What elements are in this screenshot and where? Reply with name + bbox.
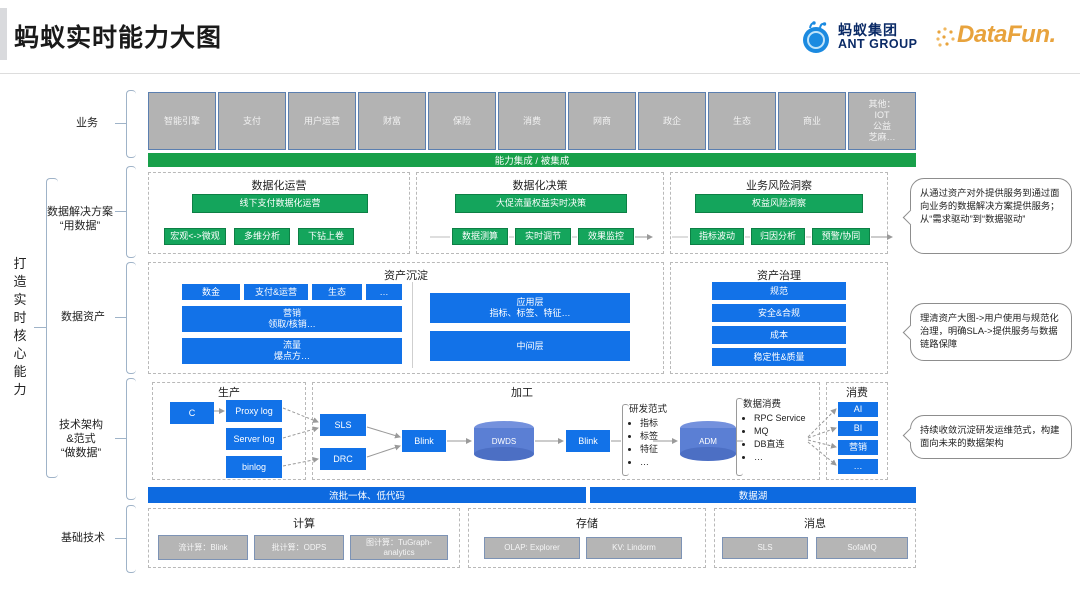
page-header: 蚂蚁实时能力大图 蚂蚁集团 ANT GROUP DataFun. (0, 0, 1080, 74)
business-item-4[interactable]: 保险 (428, 92, 496, 150)
tech-produce-title: 生产 (152, 384, 306, 400)
solution-panel-0-step-0[interactable]: 宏观<->微观 (164, 228, 226, 245)
consume-api-item-1: MQ (754, 425, 807, 438)
process-blink-left[interactable]: Blink (402, 430, 446, 452)
asset-block-1-line1: 流量 (283, 340, 301, 351)
business-item-8[interactable]: 生态 (708, 92, 776, 150)
header-divider (0, 73, 1080, 74)
business-item-9[interactable]: 商业 (778, 92, 846, 150)
tick-business (115, 123, 127, 124)
rail-outer-tick (34, 327, 47, 328)
datafun-logo-text: DataFun. (957, 21, 1056, 49)
brace-tech (126, 378, 136, 500)
solution-panel-1-title: 数据化决策 (416, 177, 664, 193)
solution-panel-0-headline[interactable]: 线下支付数据化运营 (192, 194, 368, 213)
process-store-dwds[interactable]: DWDS (474, 421, 534, 461)
integration-bar: 能力集成 / 被集成 (148, 153, 916, 167)
business-item-3[interactable]: 财富 (358, 92, 426, 150)
asset-layer-1-line1: 中间层 (516, 341, 543, 352)
solution-panel-1-headline[interactable]: 大促流量权益实时决策 (455, 194, 627, 213)
consume-api-item-3: … (754, 451, 807, 464)
foundation-group-1-title: 存储 (468, 515, 706, 531)
produce-c-box[interactable]: C (170, 402, 214, 424)
solution-panel-2-step-0[interactable]: 指标波动 (690, 228, 744, 245)
business-item-6[interactable]: 网商 (568, 92, 636, 150)
paradigm-item-0: 指标 (640, 417, 681, 430)
produce-log-2[interactable]: binlog (226, 456, 282, 478)
tick-assets (115, 317, 127, 318)
business-item-1[interactable]: 支付 (218, 92, 286, 150)
paradigm-item-2: 特征 (640, 443, 681, 456)
business-item-10-line0: 其他： (868, 99, 895, 110)
foundation-item-2-0[interactable]: SLS (722, 537, 808, 559)
solution-panel-1-step-1[interactable]: 实时调节 (515, 228, 571, 245)
foundation-item-0-0[interactable]: 流计算：Blink (158, 535, 248, 560)
consume-api-head: 数据消费 (743, 398, 807, 411)
asset-governance-title: 资产治理 (670, 267, 888, 283)
business-item-5[interactable]: 消费 (498, 92, 566, 150)
rail-label-foundation: 基础技术 (50, 531, 116, 545)
dwds-label: DWDS (474, 421, 534, 461)
foundation-item-1-1[interactable]: KV: Lindorm (586, 537, 682, 559)
governance-item-1[interactable]: 安全&合规 (712, 304, 846, 322)
consume-item-3[interactable]: … (838, 459, 878, 474)
tech-callout: 持续收敛沉淀研发运维范式，构建面向未来的数据架构 (910, 415, 1072, 459)
assets-callout: 理清资产大图->用户使用与规范化治理，明确SLA->提供服务与数据链路保障 (910, 303, 1072, 361)
solution-panel-0-step-1[interactable]: 多维分析 (234, 228, 290, 245)
consume-item-2[interactable]: 营销 (838, 440, 878, 455)
tick-foundation (115, 538, 127, 539)
asset-tag-3[interactable]: … (366, 284, 402, 300)
paradigm-item-3: … (640, 456, 681, 469)
solution-panel-2-step-2[interactable]: 预警/协同 (812, 228, 870, 245)
process-collector-0[interactable]: SLS (320, 414, 366, 436)
consume-api-list: 数据消费 RPC Service MQ DB直连 … (743, 398, 807, 464)
solution-panel-2-headline[interactable]: 权益风险洞察 (695, 194, 863, 213)
asset-layer-1[interactable]: 中间层 (430, 331, 630, 361)
foundation-item-0-1[interactable]: 批计算：ODPS (254, 535, 344, 560)
paradigm-list: 研发范式 指标 标签 特征 … (629, 403, 681, 469)
asset-tag-2[interactable]: 生态 (312, 284, 362, 300)
brace-foundation (126, 505, 136, 573)
solution-panel-1-step-2[interactable]: 效果监控 (578, 228, 634, 245)
brace-assets (126, 262, 136, 374)
rail-label-tech-line2: &范式 (44, 432, 118, 446)
foundation-bar-0: 流批一体、低代码 (148, 487, 586, 503)
consume-api-item-0: RPC Service (754, 412, 807, 425)
tech-consume-title: 消费 (826, 384, 888, 400)
process-collector-1[interactable]: DRC (320, 448, 366, 470)
solution-panel-2-step-1[interactable]: 归因分析 (751, 228, 805, 245)
ant-logo-icon (800, 21, 834, 55)
rail-label-business: 业务 (60, 116, 114, 130)
rail-label-tech: 技术架构 &范式 “做数据” (44, 418, 118, 460)
governance-item-3[interactable]: 稳定性&质量 (712, 348, 846, 366)
asset-block-0-line2: 领取/核销… (268, 319, 316, 330)
ant-group-logo: 蚂蚁集团 ANT GROUP (800, 20, 925, 58)
business-item-10-line2: 公益 (873, 121, 891, 132)
foundation-item-0-2[interactable]: 图计算：TuGraph-analytics (350, 535, 448, 560)
solutions-callout: 从通过资产对外提供服务到通过面向业务的数据解决方案提供服务；从“需求驱动”到“数… (910, 178, 1072, 254)
asset-layer-0-line1: 应用层 (516, 297, 543, 308)
asset-layer-0[interactable]: 应用层 指标、标签、特征… (430, 293, 630, 323)
governance-item-0[interactable]: 规范 (712, 282, 846, 300)
rail-label-solutions: 数据解决方案 “用数据” (42, 205, 118, 233)
consume-item-0[interactable]: AI (838, 402, 878, 417)
process-store-adm[interactable]: ADM (680, 421, 736, 461)
foundation-item-2-1[interactable]: SofaMQ (816, 537, 908, 559)
rail-label-solutions-line2: “用数据” (42, 219, 118, 233)
business-item-10-line3: 芝麻… (868, 132, 895, 143)
rail-label-assets: 数据资产 (50, 310, 116, 324)
paradigm-head: 研发范式 (629, 403, 681, 416)
solution-panel-1-step-0[interactable]: 数据测算 (452, 228, 508, 245)
ant-logo-text-en: ANT GROUP (838, 37, 918, 51)
adm-label: ADM (680, 421, 736, 461)
consume-api-item-2: DB直连 (754, 438, 807, 451)
consume-item-1[interactable]: BI (838, 421, 878, 436)
process-blink-right[interactable]: Blink (566, 430, 610, 452)
solution-panel-2-title: 业务风险洞察 (670, 177, 888, 193)
governance-item-2[interactable]: 成本 (712, 326, 846, 344)
foundation-group-0-title: 计算 (148, 515, 460, 531)
rail-vertical-label: 打造实时核心能力 (10, 255, 30, 399)
foundation-bar-1: 数据湖 (590, 487, 916, 503)
asset-layer-0-line2: 指标、标签、特征… (489, 308, 570, 319)
rail-label-solutions-line1: 数据解决方案 (42, 205, 118, 219)
rail-label-tech-line3: “做数据” (44, 446, 118, 460)
business-item-2[interactable]: 用户运营 (288, 92, 356, 150)
page-title: 蚂蚁实时能力大图 (14, 18, 222, 54)
business-item-0[interactable]: 智能引擎 (148, 92, 216, 150)
asset-deposit-title: 资产沉淀 (148, 267, 664, 283)
brace-solutions (126, 166, 136, 258)
business-item-10[interactable]: 其他： IOT 公益 芝麻… (848, 92, 916, 150)
asset-tag-0[interactable]: 数金 (182, 284, 240, 300)
datafun-dots-icon (935, 26, 959, 52)
solution-panel-0-step-2[interactable]: 下钻上卷 (298, 228, 354, 245)
foundation-group-2-title: 消息 (714, 515, 916, 531)
datafun-logo: DataFun. (935, 24, 1065, 54)
paradigm-item-1: 标签 (640, 430, 681, 443)
business-item-10-line1: IOT (875, 110, 890, 121)
produce-log-0[interactable]: Proxy log (226, 400, 282, 422)
produce-log-1[interactable]: Server log (226, 428, 282, 450)
asset-block-0[interactable]: 营销 领取/核销… (182, 306, 402, 332)
asset-tag-1[interactable]: 支付&运营 (244, 284, 308, 300)
title-accent-bar (0, 8, 7, 60)
business-item-7[interactable]: 政企 (638, 92, 706, 150)
asset-block-0-line1: 营销 (283, 308, 301, 319)
solution-panel-0-title: 数据化运营 (148, 177, 410, 193)
asset-block-1[interactable]: 流量 爆点方… (182, 338, 402, 364)
asset-block-1-line2: 爆点方… (274, 351, 310, 362)
rail-label-tech-line1: 技术架构 (44, 418, 118, 432)
tech-process-title: 加工 (312, 384, 732, 400)
foundation-item-1-0[interactable]: OLAP: Explorer (484, 537, 580, 559)
asset-deposit-divider (412, 282, 413, 368)
brace-business (126, 90, 136, 158)
